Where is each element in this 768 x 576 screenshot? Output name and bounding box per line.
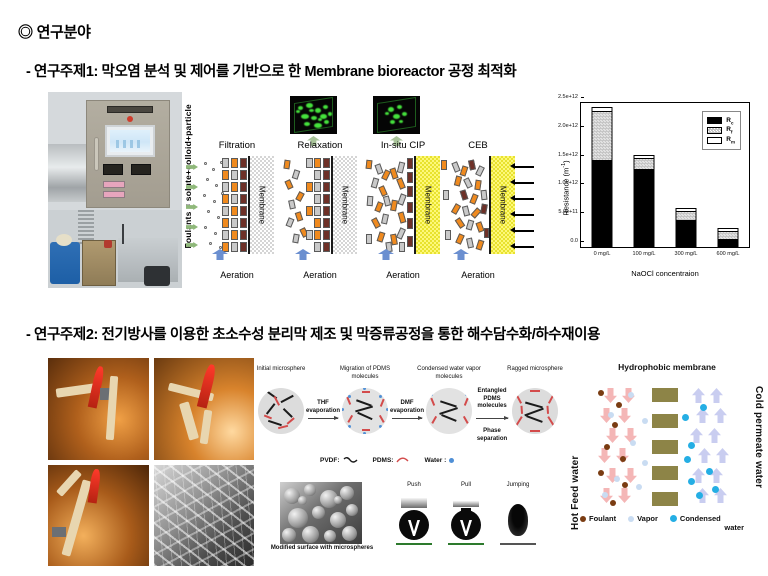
slide-root: ◎ 연구분야 - 연구주제1: 막오염 분석 및 제어를 기반으로 한 Memb… bbox=[0, 0, 768, 576]
legend-swatch-rc bbox=[707, 117, 722, 124]
md-feed-label: Hot Feed water bbox=[570, 390, 581, 530]
aeration-label: Aeration bbox=[283, 270, 357, 280]
valve bbox=[104, 240, 112, 248]
panel-ceb: CEB bbox=[441, 140, 515, 280]
chart-bar-segment-rc bbox=[718, 239, 739, 247]
membrane-layer: Membrane bbox=[248, 156, 274, 254]
step-label-1: Initial microsphere bbox=[246, 366, 316, 374]
sem-caption: Modified surface with microspheres bbox=[270, 545, 374, 551]
aeration-label: Aeration bbox=[200, 270, 274, 280]
cabinet-handle bbox=[94, 137, 99, 171]
clsm-image-relaxation bbox=[290, 96, 337, 134]
aeration-label: Aeration bbox=[441, 270, 515, 280]
legend-label-rm: Rm bbox=[726, 136, 735, 144]
legend-item-rm: Rm bbox=[707, 136, 735, 144]
md-legend-foulant-label: Foulant bbox=[589, 514, 616, 523]
panel-relaxation: Relaxation bbox=[283, 140, 357, 280]
pump-unit bbox=[144, 266, 170, 286]
droplet-pull: Pull bbox=[444, 492, 488, 548]
dispersed-foulants bbox=[441, 156, 489, 254]
pdms-icon bbox=[396, 456, 410, 464]
microsphere-legend: PVDF: PDMS: Water : bbox=[320, 456, 454, 464]
clsm-image-cip bbox=[373, 96, 420, 134]
md-legend-condensed-label: Condensed bbox=[680, 514, 721, 523]
nanofiber-sem-image bbox=[154, 465, 255, 567]
chart-bar: 600 mg/L bbox=[718, 228, 739, 247]
probe bbox=[453, 501, 479, 507]
electrospinning-photo-3 bbox=[48, 465, 149, 567]
md-legend-vapor-label: Vapor bbox=[637, 514, 658, 523]
microsphere-formation-diagram: Initial microsphere Migration of PDMS mo… bbox=[258, 366, 558, 474]
chart-legend: Rc Rf Rm bbox=[702, 111, 741, 150]
legend-label-rc: Rc bbox=[726, 117, 733, 125]
legend-pdms-label: PDMS: bbox=[373, 457, 394, 464]
panel-title: CEB bbox=[441, 140, 515, 151]
substrate bbox=[448, 543, 484, 545]
switch-row-2 bbox=[103, 191, 125, 198]
chart-bar-segment-rc bbox=[676, 220, 697, 247]
resistance-bar-chart: Resistance (m-1) Rc Rf Rm 0.05.0e+111.0e… bbox=[534, 92, 758, 284]
switch-row-1 bbox=[103, 181, 125, 188]
chart-x-tick: 300 mg/L bbox=[675, 251, 698, 257]
microsphere-condensed-vapor bbox=[426, 388, 472, 434]
microsphere-initial bbox=[258, 388, 304, 434]
chart-y-tick: 5.0e+11 bbox=[558, 209, 581, 215]
vent-grille bbox=[78, 210, 94, 244]
membrane-label: Membrane bbox=[258, 186, 267, 224]
md-legend-condensed-label2: water bbox=[580, 523, 758, 532]
panel-filtration: Filtration bbox=[200, 140, 274, 280]
aeration-label: Aeration bbox=[366, 270, 440, 280]
substrate bbox=[500, 543, 536, 545]
legend-swatch-rm bbox=[707, 137, 722, 144]
water-droplet bbox=[508, 504, 528, 536]
control-cabinet bbox=[86, 100, 170, 208]
process-arrow-1 bbox=[308, 418, 338, 419]
panel-title: Filtration bbox=[200, 140, 274, 151]
page-title: ◎ 연구분야 bbox=[18, 21, 91, 42]
digital-meter-1 bbox=[103, 164, 123, 175]
process-arrow-3 bbox=[476, 418, 508, 419]
mbr-system-photo bbox=[48, 92, 182, 288]
chart-bar: 0 mg/L bbox=[592, 107, 613, 247]
legend-water-label: Water : bbox=[424, 457, 446, 464]
legend-water: Water : bbox=[424, 457, 454, 464]
chart-y-tick: 2.0e+12 bbox=[558, 123, 581, 129]
droplet-push: Push bbox=[392, 492, 436, 548]
electrospinning-photo-grid bbox=[48, 358, 254, 566]
vapor-icon bbox=[628, 516, 634, 522]
membrane-layer: Membrane bbox=[331, 156, 357, 254]
cabinet-nameplate bbox=[107, 106, 153, 113]
topic1-heading: - 연구주제1: 막오염 분석 및 제어를 기반으로 한 Membrane bi… bbox=[26, 60, 516, 81]
chart-bar-segment-rf bbox=[718, 231, 739, 238]
electrospinning-photo-2 bbox=[154, 358, 255, 460]
chart-bar-segment-rc bbox=[634, 169, 655, 247]
step-label-4: Ragged microsphere bbox=[500, 366, 570, 374]
probe bbox=[401, 498, 427, 508]
chart-bar-segment-rf bbox=[676, 211, 697, 220]
cake-layer bbox=[200, 156, 248, 254]
hmi-touchscreen bbox=[105, 125, 155, 157]
chart-bar: 300 mg/L bbox=[676, 208, 697, 247]
droplet-neck bbox=[461, 508, 471, 518]
panel-title: In-situ CIP bbox=[366, 140, 440, 151]
substrate bbox=[396, 543, 432, 545]
membrane-layer: Membrane bbox=[489, 156, 515, 254]
topic2-heading: - 연구주제2: 전기방사를 이용한 초소수성 분리막 제조 및 막증류공정을 … bbox=[26, 323, 600, 344]
membrane-layer: Membrane bbox=[414, 156, 440, 254]
modified-surface-sem bbox=[280, 482, 362, 544]
legend-swatch-rf bbox=[707, 127, 722, 134]
chart-bar-segment-rc bbox=[592, 160, 613, 247]
legend-item-rf: Rf bbox=[707, 126, 735, 134]
condensed-water-icon bbox=[670, 515, 677, 522]
md-legend: Foulant Vapor Condensed water bbox=[580, 514, 758, 532]
electrospinning-photo-1 bbox=[48, 358, 149, 460]
arrow-label-2: DMFevaporation bbox=[386, 400, 428, 415]
chart-y-tick: 0.0 bbox=[570, 238, 581, 244]
md-legend-condensed: Condensed bbox=[670, 514, 721, 523]
membrane-label: Membrane bbox=[341, 186, 350, 224]
panel-in-situ-cip: In-situ CIP bbox=[366, 140, 440, 280]
chart-y-tick: 2.5e+12 bbox=[558, 94, 581, 100]
chart-y-axis-label: Resistance (m-1) bbox=[561, 160, 571, 215]
md-legend-vapor: Vapor bbox=[628, 514, 658, 523]
digital-meter-2 bbox=[131, 164, 151, 175]
panel-title: Relaxation bbox=[283, 140, 357, 151]
chart-y-tick: 1.0e+12 bbox=[558, 180, 581, 186]
md-title: Hydrophobic membrane bbox=[582, 362, 752, 372]
chart-x-tick: 600 mg/L bbox=[717, 251, 740, 257]
md-legend-foulant: Foulant bbox=[580, 514, 616, 523]
legend-item-rc: Rc bbox=[707, 117, 735, 125]
water-icon bbox=[449, 458, 454, 463]
step-label-2: Migration of PDMS molecules bbox=[330, 366, 400, 381]
legend-pvdf-label: PVDF: bbox=[320, 457, 340, 464]
pvdf-icon bbox=[343, 456, 359, 464]
droplet-label: Jumping bbox=[496, 482, 540, 488]
arrow-label-3a: EntangledPDMSmolecules bbox=[468, 388, 516, 411]
chart-x-tick: 0 mg/L bbox=[594, 251, 611, 257]
legend-pdms: PDMS: bbox=[373, 456, 411, 464]
chart-x-tick: 100 mg/L bbox=[633, 251, 656, 257]
chart-x-axis-label: NaOCl concentraion bbox=[580, 269, 750, 278]
legend-label-rf: Rf bbox=[726, 126, 732, 134]
droplet-label: Push bbox=[392, 482, 436, 488]
chart-bar: 100 mg/L bbox=[634, 155, 655, 247]
loosened-foulants bbox=[366, 156, 414, 254]
detached-foulants bbox=[283, 156, 331, 254]
step-label-3: Condensed water vapor molecules bbox=[414, 366, 484, 381]
membrane-label: Membrane bbox=[499, 186, 508, 224]
legend-pvdf: PVDF: bbox=[320, 456, 359, 464]
membrane-label: Membrane bbox=[424, 186, 433, 224]
microsphere-pdms-migration bbox=[342, 388, 388, 434]
membrane-distillation-diagram: Hydrophobic membrane Hot Feed water Cold… bbox=[572, 362, 762, 562]
blue-feed-tank bbox=[50, 242, 80, 284]
chart-bar-segment-rf bbox=[634, 158, 655, 169]
chart-bar-segment-rf bbox=[592, 111, 613, 160]
process-arrow-2 bbox=[392, 418, 422, 419]
droplet-jumping: Jumping bbox=[496, 492, 540, 548]
arrow-label-3b: Phaseseparation bbox=[468, 428, 516, 443]
arrow-label-1: THFevaporation bbox=[302, 400, 344, 415]
chart-plot-area: Rc Rf Rm 0.05.0e+111.0e+121.5e+122.0e+12… bbox=[580, 102, 750, 248]
droplet-label: Pull bbox=[444, 482, 488, 488]
power-led bbox=[127, 116, 133, 122]
microsphere-ragged bbox=[512, 388, 558, 434]
chart-y-tick: 1.5e+12 bbox=[558, 152, 581, 158]
foulant-icon bbox=[580, 516, 586, 522]
md-flow-area bbox=[596, 386, 738, 514]
